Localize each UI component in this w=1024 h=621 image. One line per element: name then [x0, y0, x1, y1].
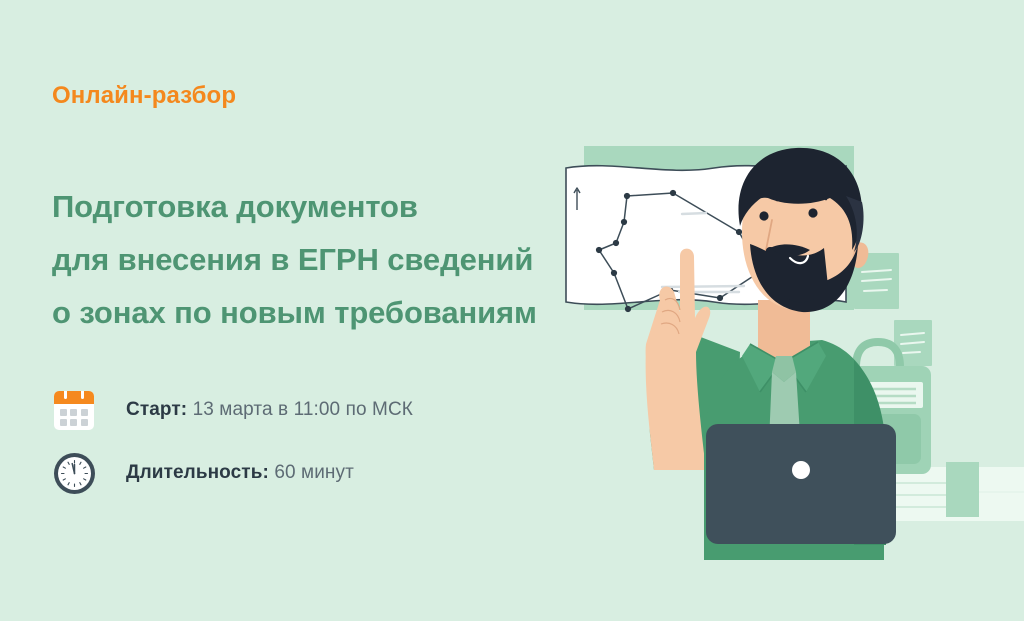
eyebrow-label: Онлайн-разбор: [52, 82, 236, 110]
detail-row-duration: Длительность: 60 минут: [52, 449, 413, 497]
page-title: Подготовка документов для внесения в ЕГР…: [52, 180, 582, 339]
detail-row-start: Старт: 13 марта в 11:00 по МСК: [52, 386, 413, 434]
headline-line-3: о зонах по новым требованиям: [52, 286, 582, 339]
laptop: [706, 424, 896, 544]
headline-line-1: Подготовка документов: [52, 180, 582, 233]
detail-value-start: 13 марта в 11:00 по МСК: [193, 399, 413, 420]
detail-label-duration: Длительность:: [126, 462, 269, 483]
clock-icon: [52, 451, 96, 495]
detail-list: Старт: 13 марта в 11:00 по МСК: [52, 386, 413, 512]
calendar-icon: [52, 388, 96, 432]
webinar-promo-banner: Онлайн-разбор Подготовка документов для …: [0, 0, 1024, 621]
detail-value-duration: 60 минут: [274, 462, 354, 483]
detail-text-duration: Длительность: 60 минут: [126, 462, 354, 484]
headline-line-2: для внесения в ЕГРН сведений: [52, 233, 582, 286]
bearded-man-with-cadastral-map-illustration: [554, 0, 1024, 621]
detail-label-start: Старт:: [126, 399, 187, 420]
text-column: Онлайн-разбор Подготовка документов для …: [52, 0, 592, 621]
detail-text-start: Старт: 13 марта в 11:00 по МСК: [126, 399, 413, 421]
